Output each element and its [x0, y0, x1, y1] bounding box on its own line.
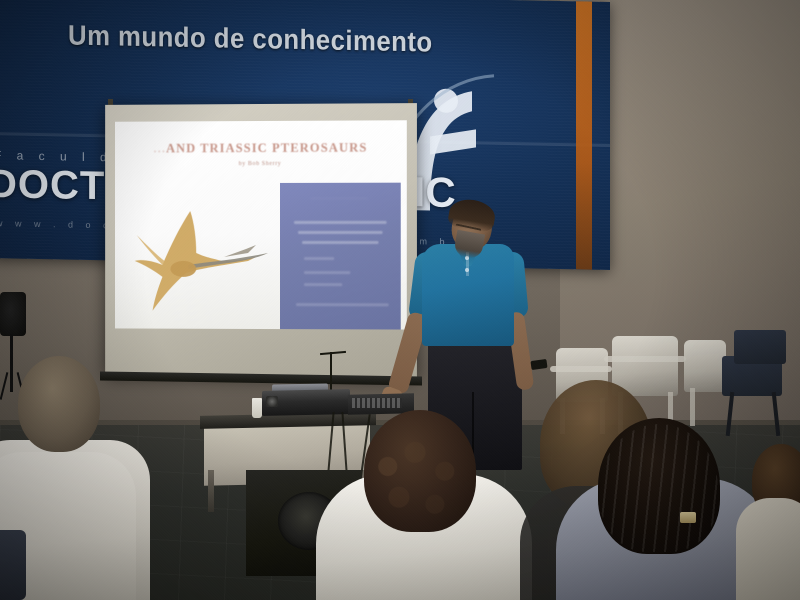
audience-braids	[600, 424, 718, 552]
projected-slide: ...AND TRIASSIC PTEROSAURS by Bob Sherry	[115, 120, 407, 329]
banner-institution-name: DOCT	[0, 162, 105, 209]
chair-armrest	[604, 356, 686, 362]
banner-orange-stripe	[576, 1, 592, 269]
presenter-button	[465, 268, 469, 272]
projector-lens	[266, 396, 278, 407]
pa-speaker	[0, 292, 26, 336]
audience-head	[18, 356, 100, 452]
dark-chair-back	[734, 330, 786, 364]
slide-title-line: ...AND TRIASSIC PTEROSAURS	[115, 140, 407, 156]
pa-speaker-stand	[10, 334, 13, 392]
white-plastic-chair	[684, 340, 726, 392]
slide-subtitle: by Bob Sherry	[115, 161, 407, 168]
slide-text-panel	[280, 183, 401, 330]
slide-title-main: AND TRIASSIC PTEROSAURS	[166, 141, 367, 156]
audience-shirt	[736, 498, 800, 600]
projection-screen: ...AND TRIASSIC PTEROSAURS by Bob Sherry	[105, 103, 417, 377]
drinking-cup	[252, 398, 262, 418]
slide-title-prefix: ...	[153, 141, 166, 155]
chair-leg	[690, 388, 695, 426]
pterosaur-illustration	[129, 199, 278, 319]
hair-clip	[680, 512, 696, 523]
chair-armrest	[550, 366, 612, 372]
audience-trousers	[0, 530, 26, 600]
audience-curly-hair	[358, 424, 482, 542]
table-leg	[208, 470, 214, 512]
laptop-keyboard	[352, 398, 402, 408]
photo-scene: Um mundo de conhecimento F a c u l d a D…	[0, 0, 800, 600]
